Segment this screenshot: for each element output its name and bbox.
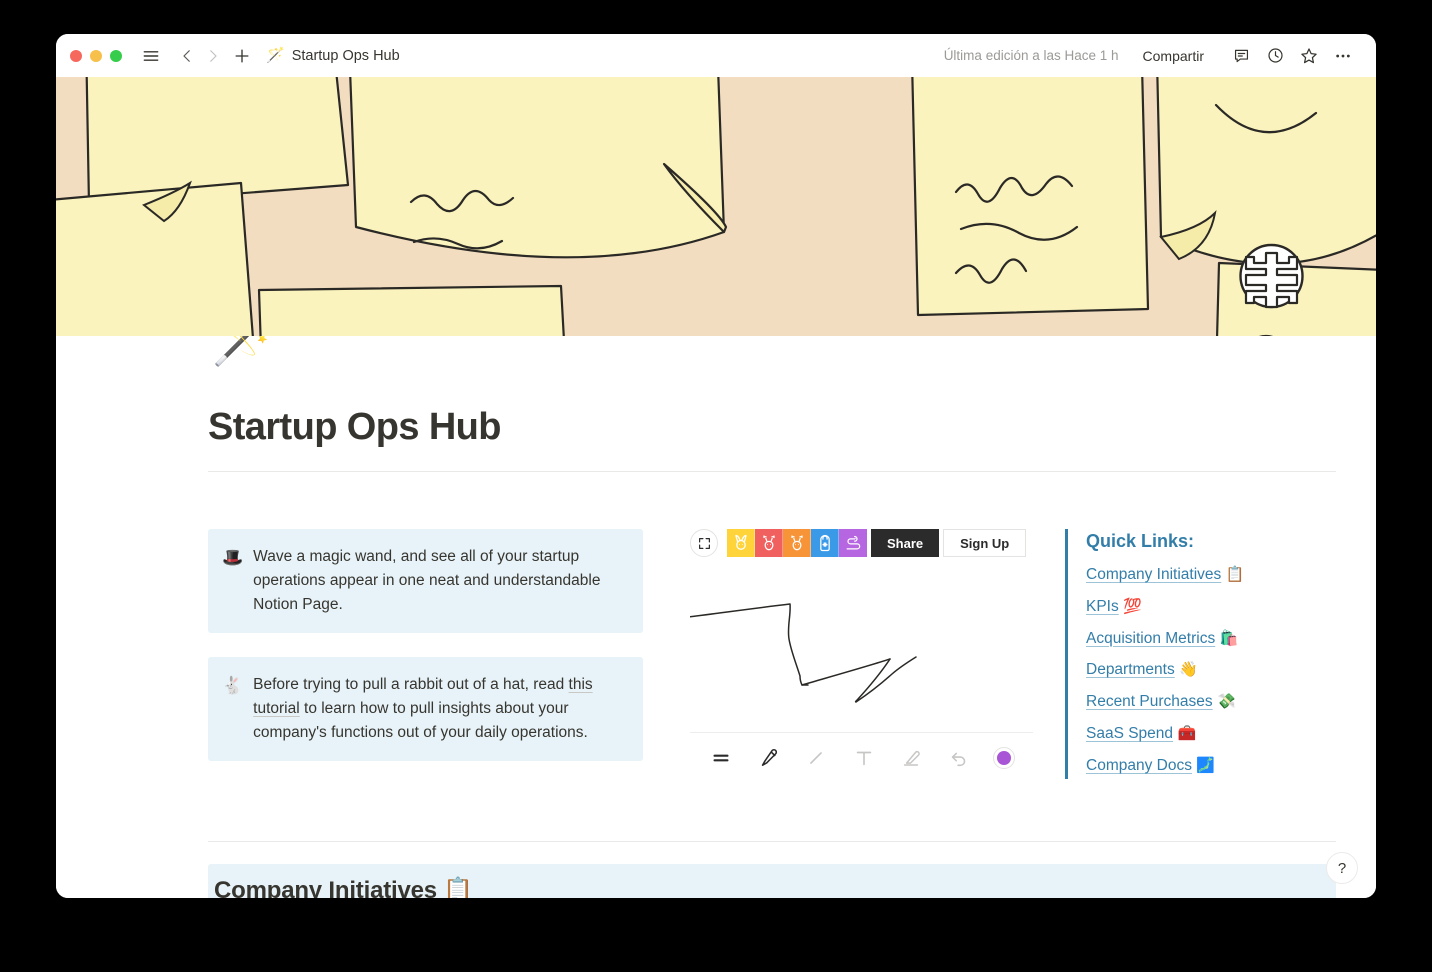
quick-link-row: Company Initiatives 📋 (1086, 565, 1336, 586)
hundred-points-icon: 💯 (1123, 598, 1142, 615)
clock-icon[interactable] (1260, 41, 1290, 71)
title-bar-actions: Última edición a las Hace 1 h Compartir (944, 41, 1358, 71)
section-heading-company-initiatives[interactable]: Company Initiatives 📋 (208, 864, 1336, 898)
callout-text: Before trying to pull a rabbit out of a … (253, 673, 627, 745)
pen-tool[interactable] (756, 745, 782, 771)
text-tool[interactable] (851, 745, 877, 771)
quick-link-company-initiatives[interactable]: Company Initiatives (1086, 566, 1221, 583)
plus-icon[interactable] (228, 42, 256, 70)
column-callouts: 🎩 Wave a magic wand, and see all of your… (208, 529, 643, 785)
back-icon[interactable] (174, 43, 200, 69)
swatch-snake-purple[interactable] (839, 529, 867, 557)
expand-icon[interactable] (690, 529, 718, 557)
swatch-deer-red[interactable] (755, 529, 783, 557)
magic-wand-icon[interactable]: 🪄 (211, 336, 281, 364)
ink-strokes (690, 575, 1033, 732)
swatch-backpack-blue[interactable] (811, 529, 839, 557)
quick-links-heading: Quick Links: (1086, 531, 1336, 552)
toolbox-icon: 🧰 (1178, 725, 1197, 742)
color-picker-button[interactable] (993, 747, 1015, 769)
drawing-toolbar (690, 732, 1033, 782)
swatch-rabbit-yellow[interactable] (727, 529, 755, 557)
title-bar: 🪄 Startup Ops Hub Última edición a las H… (56, 34, 1376, 77)
quick-link-saas-spend[interactable]: SaaS Spend (1086, 725, 1173, 742)
close-window-button[interactable] (70, 50, 82, 62)
drawing-embed: Share Sign Up (690, 529, 1033, 782)
quick-link-departments[interactable]: Departments (1086, 661, 1175, 678)
clipboard-icon: 📋 (1226, 566, 1245, 583)
star-icon[interactable] (1294, 41, 1324, 71)
help-button[interactable]: ? (1326, 852, 1358, 884)
embed-signup-button[interactable]: Sign Up (943, 529, 1026, 557)
window-traffic-lights (70, 50, 122, 62)
thickness-tool[interactable] (708, 745, 734, 771)
rabbit-icon: 🐇 (222, 673, 243, 745)
waving-hand-icon: 👋 (1179, 661, 1198, 678)
current-color-swatch (997, 751, 1011, 765)
quick-link-kpis[interactable]: KPIs (1086, 598, 1119, 615)
callout-block-tutorial[interactable]: 🐇 Before trying to pull a rabbit out of … (208, 657, 643, 761)
comment-icon[interactable] (1226, 41, 1256, 71)
screen: 🪄 Startup Ops Hub Última edición a las H… (0, 0, 1432, 972)
undo-tool[interactable] (946, 745, 972, 771)
eraser-tool[interactable] (898, 745, 924, 771)
world-map-icon: 🗾 (1196, 757, 1215, 774)
ellipsis-icon[interactable] (1328, 41, 1358, 71)
swatch-deer-orange[interactable] (783, 529, 811, 557)
quick-link-acquisition-metrics[interactable]: Acquisition Metrics (1086, 630, 1215, 647)
top-hat-icon: 🎩 (222, 545, 243, 617)
last-edited-label: Última edición a las Hace 1 h (944, 48, 1119, 63)
forward-icon[interactable] (200, 43, 226, 69)
quick-link-recent-purchases[interactable]: Recent Purchases (1086, 693, 1213, 710)
money-with-wings-icon: 💸 (1217, 693, 1236, 710)
divider (208, 841, 1336, 842)
quick-link-row: Acquisition Metrics 🛍️ (1086, 629, 1336, 650)
quick-link-row: Departments 👋 (1086, 660, 1336, 681)
callout-text-before: Before trying to pull a rabbit out of a … (253, 676, 568, 693)
page-title[interactable]: Startup Ops Hub (208, 406, 501, 449)
page-cover (56, 77, 1376, 336)
column-list: 🎩 Wave a magic wand, and see all of your… (208, 529, 1336, 785)
breadcrumb-title: Startup Ops Hub (292, 48, 400, 64)
divider (208, 471, 1336, 472)
cover-illustration (56, 77, 1376, 336)
quick-link-row: Company Docs 🗾 (1086, 756, 1336, 777)
quick-link-row: KPIs 💯 (1086, 597, 1336, 618)
shopping-bags-icon: 🛍️ (1220, 630, 1239, 647)
quick-links-callout: Quick Links: Company Initiatives 📋 KPIs … (1065, 529, 1336, 779)
minimize-window-button[interactable] (90, 50, 102, 62)
magic-wand-icon: 🪄 (266, 48, 285, 63)
quick-link-row: Recent Purchases 💸 (1086, 692, 1336, 713)
rabbit-icon (731, 533, 751, 553)
breadcrumb[interactable]: 🪄 Startup Ops Hub (266, 48, 400, 64)
pushpin-badge (1241, 245, 1303, 307)
callout-block-magic-wand[interactable]: 🎩 Wave a magic wand, and see all of your… (208, 529, 643, 633)
app-window: 🪄 Startup Ops Hub Última edición a las H… (56, 34, 1376, 898)
embed-share-button[interactable]: Share (871, 529, 939, 557)
line-tool[interactable] (803, 745, 829, 771)
deer-icon (787, 533, 807, 553)
hamburger-icon[interactable] (138, 43, 164, 69)
quick-link-company-docs[interactable]: Company Docs (1086, 757, 1192, 774)
share-button[interactable]: Compartir (1137, 44, 1210, 68)
column-quick-links: Quick Links: Company Initiatives 📋 KPIs … (1033, 529, 1336, 785)
drawing-canvas[interactable] (690, 575, 1033, 732)
maximize-window-button[interactable] (110, 50, 122, 62)
drawing-embed-header: Share Sign Up (690, 529, 1033, 557)
callout-text: Wave a magic wand, and see all of your s… (253, 545, 627, 617)
callout-text-after: to learn how to pull insights about your… (253, 700, 588, 741)
page-body: 🪄 Startup Ops Hub 🎩 Wave a magic wand, a… (56, 336, 1376, 898)
deer-icon (759, 533, 779, 553)
quick-link-row: SaaS Spend 🧰 (1086, 724, 1336, 745)
backpack-icon (815, 533, 835, 553)
column-drawing: Share Sign Up (643, 529, 1033, 785)
snake-icon (843, 533, 863, 553)
